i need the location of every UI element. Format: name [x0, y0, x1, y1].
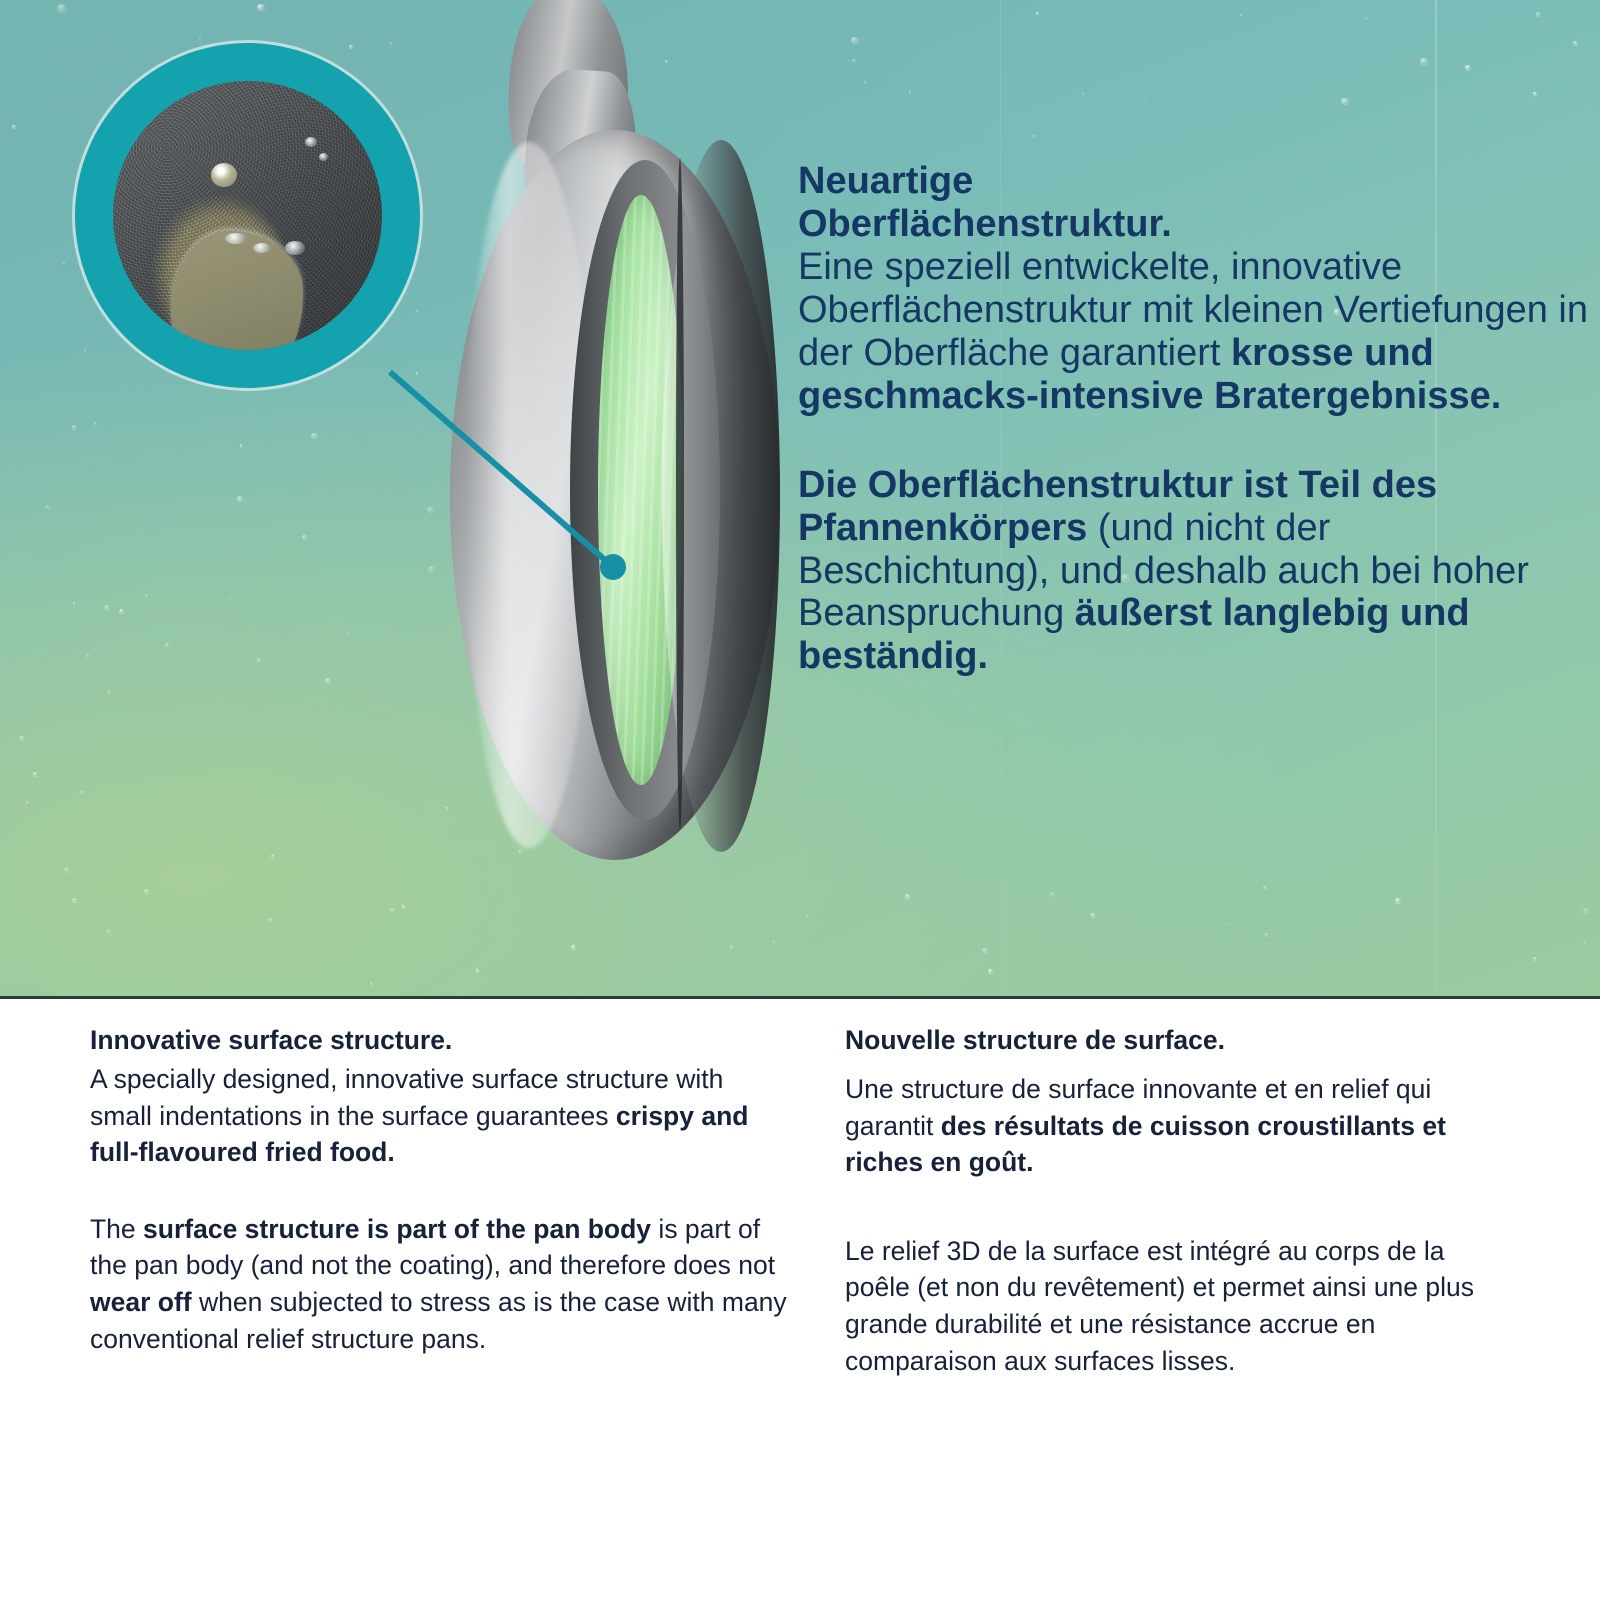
- water-droplet: [1583, 908, 1589, 913]
- oil-bead-icon: [211, 163, 237, 187]
- droplet-highlight-icon: [319, 153, 328, 161]
- english-p2-plain-a: The: [90, 1214, 143, 1244]
- water-droplet: [144, 889, 149, 893]
- droplet-highlight-icon: [253, 243, 271, 253]
- water-droplet: [851, 37, 859, 43]
- droplet-highlight-icon: [305, 137, 317, 147]
- water-droplet: [1395, 898, 1401, 903]
- hero-image-panel: Neuartige Oberflächenstruktur. Eine spez…: [0, 0, 1600, 999]
- water-droplet: [64, 867, 70, 872]
- french-paragraph-spacer: [845, 1181, 1505, 1233]
- water-droplet: [1533, 957, 1537, 960]
- french-paragraph-1: Une structure de surface innovante et en…: [845, 1071, 1505, 1181]
- water-droplet: [370, 982, 373, 985]
- water-droplet: [229, 598, 232, 600]
- water-droplet: [1226, 923, 1228, 925]
- german-heading-line1: Neuartige: [798, 160, 1588, 203]
- water-droplet: [269, 918, 272, 921]
- english-copy-column: Innovative surface structure. A speciall…: [90, 1024, 790, 1357]
- water-droplet: [988, 969, 993, 973]
- water-droplet: [390, 42, 392, 44]
- water-droplet: [12, 125, 16, 128]
- water-droplet: [349, 45, 353, 49]
- water-droplet: [165, 643, 169, 646]
- french-copy-column: Nouvelle structure de surface. Une struc…: [845, 1024, 1505, 1379]
- water-droplet: [46, 505, 49, 508]
- water-droplet: [773, 941, 775, 943]
- water-droplet: [806, 915, 808, 917]
- water-droplet: [302, 535, 307, 539]
- water-droplet: [119, 609, 125, 614]
- water-droplet: [1263, 886, 1266, 889]
- water-droplet: [571, 945, 576, 949]
- french-heading: Nouvelle structure de surface.: [845, 1024, 1505, 1057]
- water-droplet: [1583, 942, 1586, 945]
- water-droplet: [81, 791, 83, 793]
- water-droplet: [1420, 58, 1428, 65]
- water-droplet: [311, 433, 318, 439]
- water-droplet: [104, 605, 110, 610]
- water-droplet: [107, 690, 111, 693]
- water-droplet: [240, 444, 243, 446]
- water-droplet: [63, 262, 65, 264]
- water-droplet: [730, 945, 733, 948]
- water-droplet: [852, 59, 855, 62]
- french-paragraph-2: Le relief 3D de la surface est intégré a…: [845, 1233, 1505, 1379]
- water-droplet: [982, 948, 988, 953]
- water-droplet: [1536, 12, 1542, 17]
- water-droplet: [72, 425, 77, 429]
- english-p2-plain-c: when subjected to stress as is the case …: [90, 1287, 787, 1354]
- water-droplet: [57, 4, 67, 12]
- water-droplet: [1240, 14, 1242, 16]
- water-droplet: [213, 576, 215, 578]
- english-p2-bold-a: surface structure is part of the pan bod…: [143, 1214, 651, 1244]
- product-infographic-page: Neuartige Oberflächenstruktur. Eine spez…: [0, 0, 1600, 1600]
- water-droplet: [1091, 913, 1095, 917]
- water-droplet: [84, 349, 86, 351]
- water-droplet: [86, 654, 90, 657]
- german-paragraph-2: Die Oberflächenstruktur ist Teil des Pfa…: [798, 464, 1588, 679]
- water-droplet: [402, 905, 406, 908]
- water-droplet: [199, 37, 202, 39]
- water-droplet: [106, 929, 111, 934]
- water-droplet: [390, 908, 395, 912]
- water-droplet: [1465, 65, 1471, 70]
- water-droplet: [1145, 95, 1147, 97]
- german-paragraph-1: Eine speziell entwickelte, innovative Ob…: [798, 246, 1588, 418]
- surface-magnifier-callout: [75, 43, 420, 388]
- water-droplet: [909, 91, 911, 93]
- water-droplet: [73, 602, 75, 604]
- water-droplet: [416, 310, 418, 312]
- water-droplet: [476, 969, 480, 972]
- water-droplet: [1365, 17, 1367, 19]
- water-droplet: [416, 372, 418, 374]
- water-droplet: [325, 678, 331, 683]
- magnified-surface-photo: [113, 81, 382, 350]
- water-droplet: [1082, 92, 1084, 94]
- water-droplet: [348, 632, 350, 634]
- water-droplet: [26, 801, 29, 804]
- english-p2-bold-b: wear off: [90, 1287, 192, 1317]
- english-paragraph-2: The surface structure is part of the pan…: [90, 1211, 790, 1357]
- water-droplet: [1573, 41, 1577, 45]
- water-droplet: [1050, 892, 1055, 896]
- translations-panel: Innovative surface structure. A speciall…: [0, 999, 1600, 1600]
- german-heading-line2: Oberflächenstruktur.: [798, 203, 1588, 246]
- droplet-highlight-icon: [285, 241, 305, 255]
- water-droplet: [257, 4, 265, 11]
- water-droplet: [222, 703, 224, 705]
- water-droplet: [72, 898, 78, 903]
- water-droplet: [237, 496, 243, 501]
- water-droplet: [1033, 135, 1036, 137]
- water-droplet: [1341, 98, 1349, 104]
- water-droplet: [1265, 933, 1269, 936]
- water-droplet: [1533, 92, 1536, 95]
- water-droplet: [145, 594, 148, 597]
- water-droplet: [20, 736, 24, 739]
- water-droplet: [33, 772, 37, 775]
- water-droplet: [1036, 12, 1039, 15]
- water-droplet: [864, 81, 866, 83]
- droplet-highlight-icon: [225, 233, 247, 244]
- english-paragraph-1: A specially designed, innovative surface…: [90, 1061, 790, 1171]
- water-droplet: [905, 894, 911, 899]
- german-copy-block: Neuartige Oberflächenstruktur. Eine spez…: [798, 160, 1588, 678]
- english-paragraph-spacer: [90, 1171, 790, 1211]
- german-p1-plain: Eine speziell entwickelte, innovative Ob…: [798, 246, 1588, 374]
- water-droplet: [257, 658, 261, 662]
- water-droplet: [94, 422, 98, 425]
- frying-pan-illustration: [430, 0, 830, 890]
- water-droplet: [271, 854, 276, 858]
- pan-rim-edge: [676, 158, 684, 830]
- english-heading: Innovative surface structure.: [90, 1024, 790, 1057]
